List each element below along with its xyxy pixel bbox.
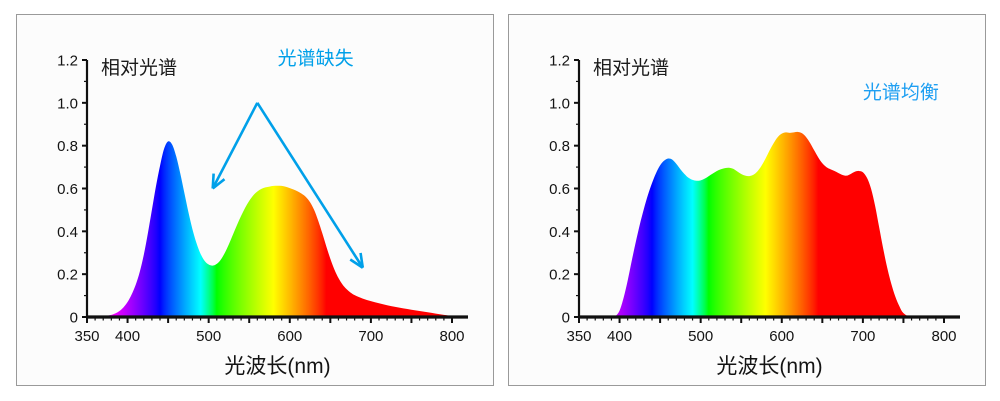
y-tick-label: 0.8 [57,138,78,155]
y-tick-label: 0.6 [57,181,78,198]
spectrum-area [579,132,944,317]
plot-title: 相对光谱 [101,57,177,79]
y-tick-label: 0.2 [549,267,570,284]
spectrum-comparison-figure: 35040050060070080000.20.40.60.81.01.2相对光… [0,0,1000,401]
x-tick-label: 600 [277,328,302,345]
x-axis-title: 光波长(nm) [224,355,330,378]
chart-right-spectrum: 35040050060070080000.20.40.60.81.01.2相对光… [509,15,985,385]
x-tick-label: 500 [196,328,221,345]
x-tick-label: 800 [439,328,464,345]
y-tick-label: 0.4 [57,224,78,241]
annotation-label: 光谱均衡 [863,82,939,104]
x-tick-label: 500 [688,328,713,345]
x-tick-label: 700 [358,328,383,345]
y-tick-label: 1.0 [57,95,78,112]
panel-right-spectrum: 35040050060070080000.20.40.60.81.01.2相对光… [508,14,986,386]
plot-title: 相对光谱 [593,57,669,79]
annotation-label: 光谱缺失 [278,47,354,69]
x-tick-label: 800 [931,328,956,345]
y-tick-label: 0.2 [57,267,78,284]
x-tick-label: 350 [566,328,591,345]
y-tick-label: 0.6 [549,181,570,198]
y-tick-label: 0.4 [549,224,570,241]
spectrum-area [87,141,452,317]
x-axis-title: 光波长(nm) [716,355,822,378]
chart-left-spectrum: 35040050060070080000.20.40.60.81.01.2相对光… [17,15,493,385]
x-tick-label: 400 [115,328,140,345]
annotation-arrow [213,103,258,189]
y-tick-label: 1.2 [57,53,78,70]
y-tick-label: 0.8 [549,138,570,155]
y-tick-label: 0 [70,310,78,327]
x-tick-label: 350 [74,328,99,345]
panel-left-spectrum: 35040050060070080000.20.40.60.81.01.2相对光… [16,14,494,386]
x-tick-label: 400 [607,328,632,345]
y-tick-label: 1.2 [549,53,570,70]
x-tick-label: 600 [769,328,794,345]
y-tick-label: 1.0 [549,95,570,112]
y-tick-label: 0 [562,310,570,327]
x-tick-label: 700 [850,328,875,345]
